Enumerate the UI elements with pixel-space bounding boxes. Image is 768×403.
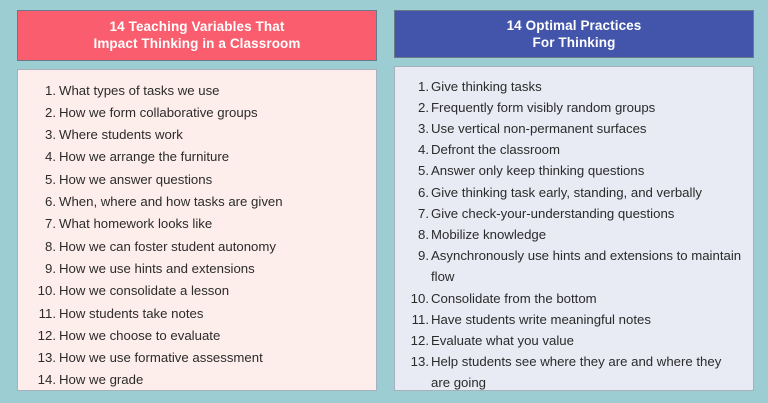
list-item-number: 11. xyxy=(403,309,430,330)
list-item: 5.How we answer questions xyxy=(26,169,368,191)
comparison-board: 14 Teaching Variables That Impact Thinki… xyxy=(0,0,768,403)
list-item: 12.Evaluate what you value xyxy=(403,330,743,351)
column-optimal-practices: 14 Optimal Practices For Thinking 1.Give… xyxy=(394,10,754,391)
list-item: 10.Consolidate from the bottom xyxy=(403,288,743,309)
list-item: 8.Mobilize knowledge xyxy=(403,224,743,245)
list-item: 4.Defront the classroom xyxy=(403,139,743,160)
list-item-label: How we use hints and extensions xyxy=(59,258,368,280)
left-header-text: 14 Teaching Variables That Impact Thinki… xyxy=(93,18,300,52)
list-item: 3.Where students work xyxy=(26,124,368,146)
list-item: 9.How we use hints and extensions xyxy=(26,258,368,280)
right-panel-body: 1.Give thinking tasks2.Frequently form v… xyxy=(394,66,754,391)
left-header-line1: 14 Teaching Variables That xyxy=(110,19,285,34)
list-item-number: 3. xyxy=(26,124,59,146)
list-item: 11.How students take notes xyxy=(26,303,368,325)
list-item-label: How we can foster student autonomy xyxy=(59,236,368,258)
list-item-label: Give thinking task early, standing, and … xyxy=(430,182,743,203)
list-item: 12.How we choose to evaluate xyxy=(26,325,368,347)
left-panel-header: 14 Teaching Variables That Impact Thinki… xyxy=(17,10,377,61)
list-item-label: How we arrange the furniture xyxy=(59,146,368,168)
list-item-number: 12. xyxy=(26,325,59,347)
list-item: 9.Asynchronously use hints and extension… xyxy=(403,245,743,287)
list-item-number: 8. xyxy=(403,224,430,245)
list-item-label: Use vertical non-permanent surfaces xyxy=(430,118,743,139)
optimal-practices-list: 1.Give thinking tasks2.Frequently form v… xyxy=(403,76,743,391)
list-item-number: 6. xyxy=(26,191,59,213)
list-item-number: 4. xyxy=(26,146,59,168)
list-item-number: 1. xyxy=(26,80,59,102)
list-item-number: 9. xyxy=(26,258,59,280)
right-panel-header: 14 Optimal Practices For Thinking xyxy=(394,10,754,58)
list-item-label: Where students work xyxy=(59,124,368,146)
list-item-label: Have students write meaningful notes xyxy=(430,309,743,330)
right-header-line2: For Thinking xyxy=(533,35,616,50)
column-teaching-variables: 14 Teaching Variables That Impact Thinki… xyxy=(17,10,377,391)
list-item-label: Evaluate what you value xyxy=(430,330,743,351)
list-item-number: 10. xyxy=(26,280,59,302)
right-header-line1: 14 Optimal Practices xyxy=(507,18,642,33)
list-item: 7.What homework looks like xyxy=(26,213,368,235)
list-item-number: 10. xyxy=(403,288,430,309)
list-item-number: 11. xyxy=(26,303,59,325)
list-item-label: How we answer questions xyxy=(59,169,368,191)
list-item-number: 8. xyxy=(26,236,59,258)
list-item-number: 3. xyxy=(403,118,430,139)
list-item: 5.Answer only keep thinking questions xyxy=(403,160,743,181)
list-item: 6.Give thinking task early, standing, an… xyxy=(403,182,743,203)
list-item: 6.When, where and how tasks are given xyxy=(26,191,368,213)
list-item-number: 7. xyxy=(26,213,59,235)
list-item-number: 5. xyxy=(403,160,430,181)
list-item-number: 2. xyxy=(26,102,59,124)
list-item-label: Defront the classroom xyxy=(430,139,743,160)
list-item-number: 14. xyxy=(26,369,59,391)
list-item-label: How we form collaborative groups xyxy=(59,102,368,124)
list-item-label: Give thinking tasks xyxy=(430,76,743,97)
list-item-label: When, where and how tasks are given xyxy=(59,191,368,213)
list-item-number: 2. xyxy=(403,97,430,118)
list-item: 1.What types of tasks we use xyxy=(26,80,368,102)
list-item-number: 6. xyxy=(403,182,430,203)
list-item: 2.How we form collaborative groups xyxy=(26,102,368,124)
list-item-label: Consolidate from the bottom xyxy=(430,288,743,309)
list-item: 8.How we can foster student autonomy xyxy=(26,236,368,258)
list-item: 2.Frequently form visibly random groups xyxy=(403,97,743,118)
list-item-label: Mobilize knowledge xyxy=(430,224,743,245)
list-item: 4.How we arrange the furniture xyxy=(26,146,368,168)
list-item-label: Answer only keep thinking questions xyxy=(430,160,743,181)
list-item: 7.Give check-your-understanding question… xyxy=(403,203,743,224)
list-item: 13.How we use formative assessment xyxy=(26,347,368,369)
list-item-label: Help students see where they are and whe… xyxy=(430,351,743,391)
list-item-number: 4. xyxy=(403,139,430,160)
list-item-number: 9. xyxy=(403,245,430,266)
list-item: 10.How we consolidate a lesson xyxy=(26,280,368,302)
list-item-label: What types of tasks we use xyxy=(59,80,368,102)
left-header-line2: Impact Thinking in a Classroom xyxy=(93,36,300,51)
left-panel-body: 1.What types of tasks we use2.How we for… xyxy=(17,69,377,391)
right-header-text: 14 Optimal Practices For Thinking xyxy=(507,17,642,51)
list-item-label: How students take notes xyxy=(59,303,368,325)
list-item-number: 13. xyxy=(26,347,59,369)
list-item-label: What homework looks like xyxy=(59,213,368,235)
list-item-label: Asynchronously use hints and extensions … xyxy=(430,245,743,287)
list-item: 3.Use vertical non-permanent surfaces xyxy=(403,118,743,139)
list-item-label: How we choose to evaluate xyxy=(59,325,368,347)
list-item-label: How we use formative assessment xyxy=(59,347,368,369)
list-item: 13.Help students see where they are and … xyxy=(403,351,743,391)
list-item-number: 12. xyxy=(403,330,430,351)
list-item: 1.Give thinking tasks xyxy=(403,76,743,97)
list-item-label: Frequently form visibly random groups xyxy=(430,97,743,118)
list-item-number: 7. xyxy=(403,203,430,224)
list-item-number: 13. xyxy=(403,351,430,372)
list-item-number: 1. xyxy=(403,76,430,97)
list-item-label: Give check-your-understanding questions xyxy=(430,203,743,224)
list-item: 11.Have students write meaningful notes xyxy=(403,309,743,330)
list-item-label: How we grade xyxy=(59,369,368,391)
list-item-number: 5. xyxy=(26,169,59,191)
list-item: 14.How we grade xyxy=(26,369,368,391)
list-item-label: How we consolidate a lesson xyxy=(59,280,368,302)
teaching-variables-list: 1.What types of tasks we use2.How we for… xyxy=(26,80,368,391)
